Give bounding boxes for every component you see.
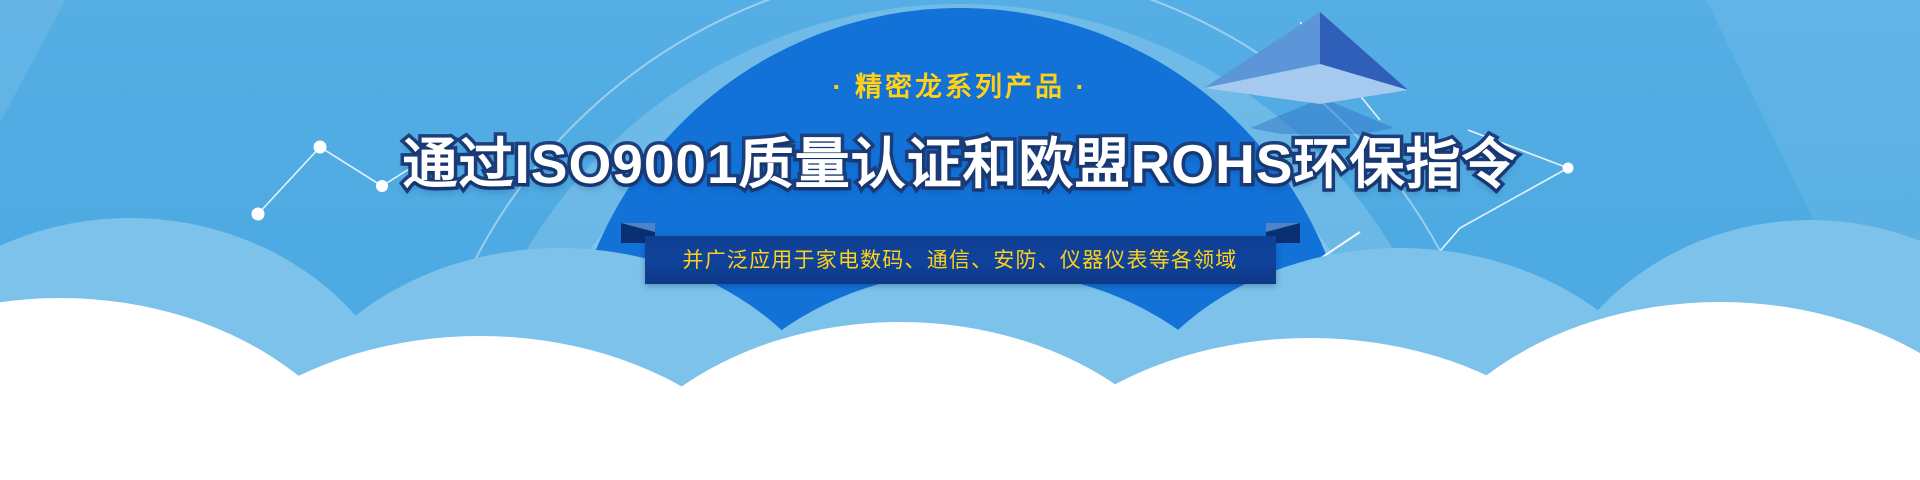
banner-content: · 精密龙系列产品 · 通过ISO9001质量认证和欧盟ROHS环保指令 并广泛… — [0, 0, 1920, 480]
promo-banner: · 精密龙系列产品 · 通过ISO9001质量认证和欧盟ROHS环保指令 并广泛… — [0, 0, 1920, 480]
ribbon-body: 并广泛应用于家电数码、通信、安防、仪器仪表等各领域 — [645, 236, 1276, 284]
eyebrow-text: · 精密龙系列产品 · — [833, 74, 1088, 101]
ribbon-label: 并广泛应用于家电数码、通信、安防、仪器仪表等各领域 — [683, 250, 1238, 271]
ribbon-banner: 并广泛应用于家电数码、通信、安防、仪器仪表等各领域 — [645, 232, 1276, 288]
headline-text: 通过ISO9001质量认证和欧盟ROHS环保指令 — [402, 135, 1517, 194]
